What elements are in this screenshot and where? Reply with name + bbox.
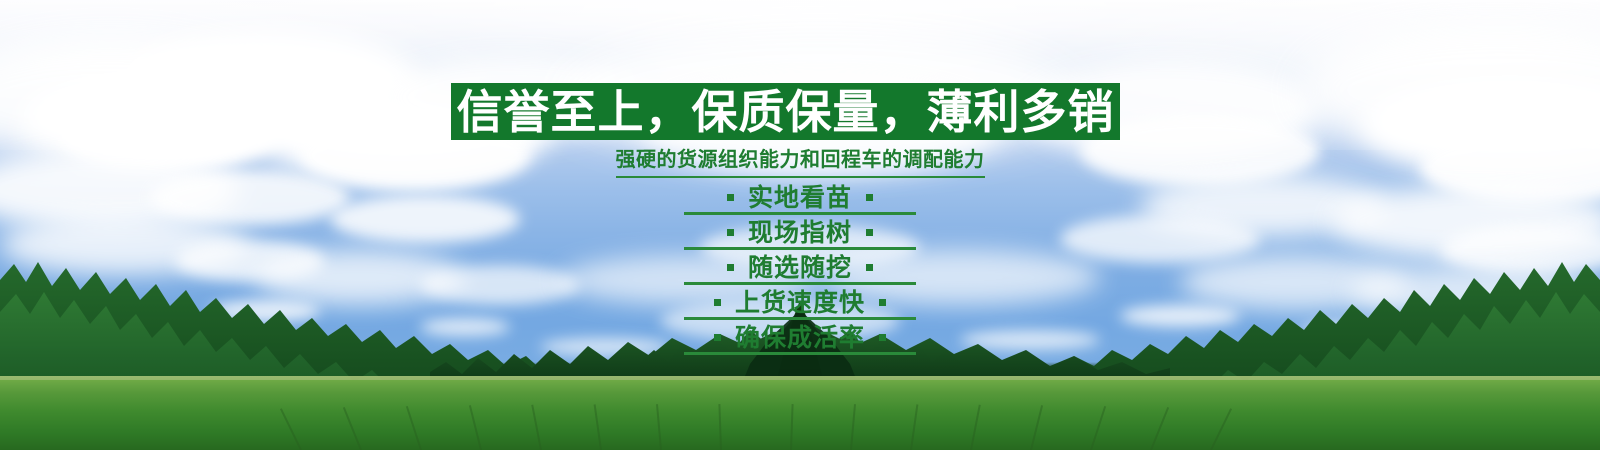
- banner-content: 信誉至上，保质保量，薄利多销 强硬的货源组织能力和回程车的调配能力 实地看苗 现…: [0, 0, 1600, 450]
- feature-item: 现场指树: [684, 215, 916, 250]
- feature-label: 实地看苗: [748, 185, 852, 210]
- bullet-dot-icon: [866, 264, 873, 271]
- bullet-dot-icon: [714, 334, 721, 341]
- promo-banner: 信誉至上，保质保量，薄利多销 强硬的货源组织能力和回程车的调配能力 实地看苗 现…: [0, 0, 1600, 450]
- bullet-dot-icon: [879, 334, 886, 341]
- feature-label: 现场指树: [748, 220, 852, 245]
- bullet-dot-icon: [866, 194, 873, 201]
- feature-label: 上货速度快: [735, 290, 865, 315]
- feature-item: 实地看苗: [684, 180, 916, 215]
- feature-list: 实地看苗 现场指树 随选随挖: [0, 180, 1600, 355]
- feature-label: 确保成活率: [735, 325, 865, 350]
- bullet-dot-icon: [866, 229, 873, 236]
- feature-label: 随选随挖: [748, 255, 852, 280]
- bullet-dot-icon: [727, 229, 734, 236]
- feature-item: 确保成活率: [684, 320, 916, 355]
- subtitle-row: 强硬的货源组织能力和回程车的调配能力: [0, 143, 1600, 178]
- bullet-dot-icon: [727, 264, 734, 271]
- headline-text: 信誉至上，保质保量，薄利多销: [457, 89, 1115, 135]
- bullet-dot-icon: [879, 299, 886, 306]
- feature-item: 上货速度快: [684, 285, 916, 320]
- bullet-dot-icon: [727, 194, 734, 201]
- bullet-dot-icon: [714, 299, 721, 306]
- feature-item: 随选随挖: [684, 250, 916, 285]
- feature-separator: [684, 352, 916, 355]
- subtitle-text: 强硬的货源组织能力和回程车的调配能力: [616, 143, 985, 178]
- headline-banner-bar: 信誉至上，保质保量，薄利多销: [451, 83, 1120, 140]
